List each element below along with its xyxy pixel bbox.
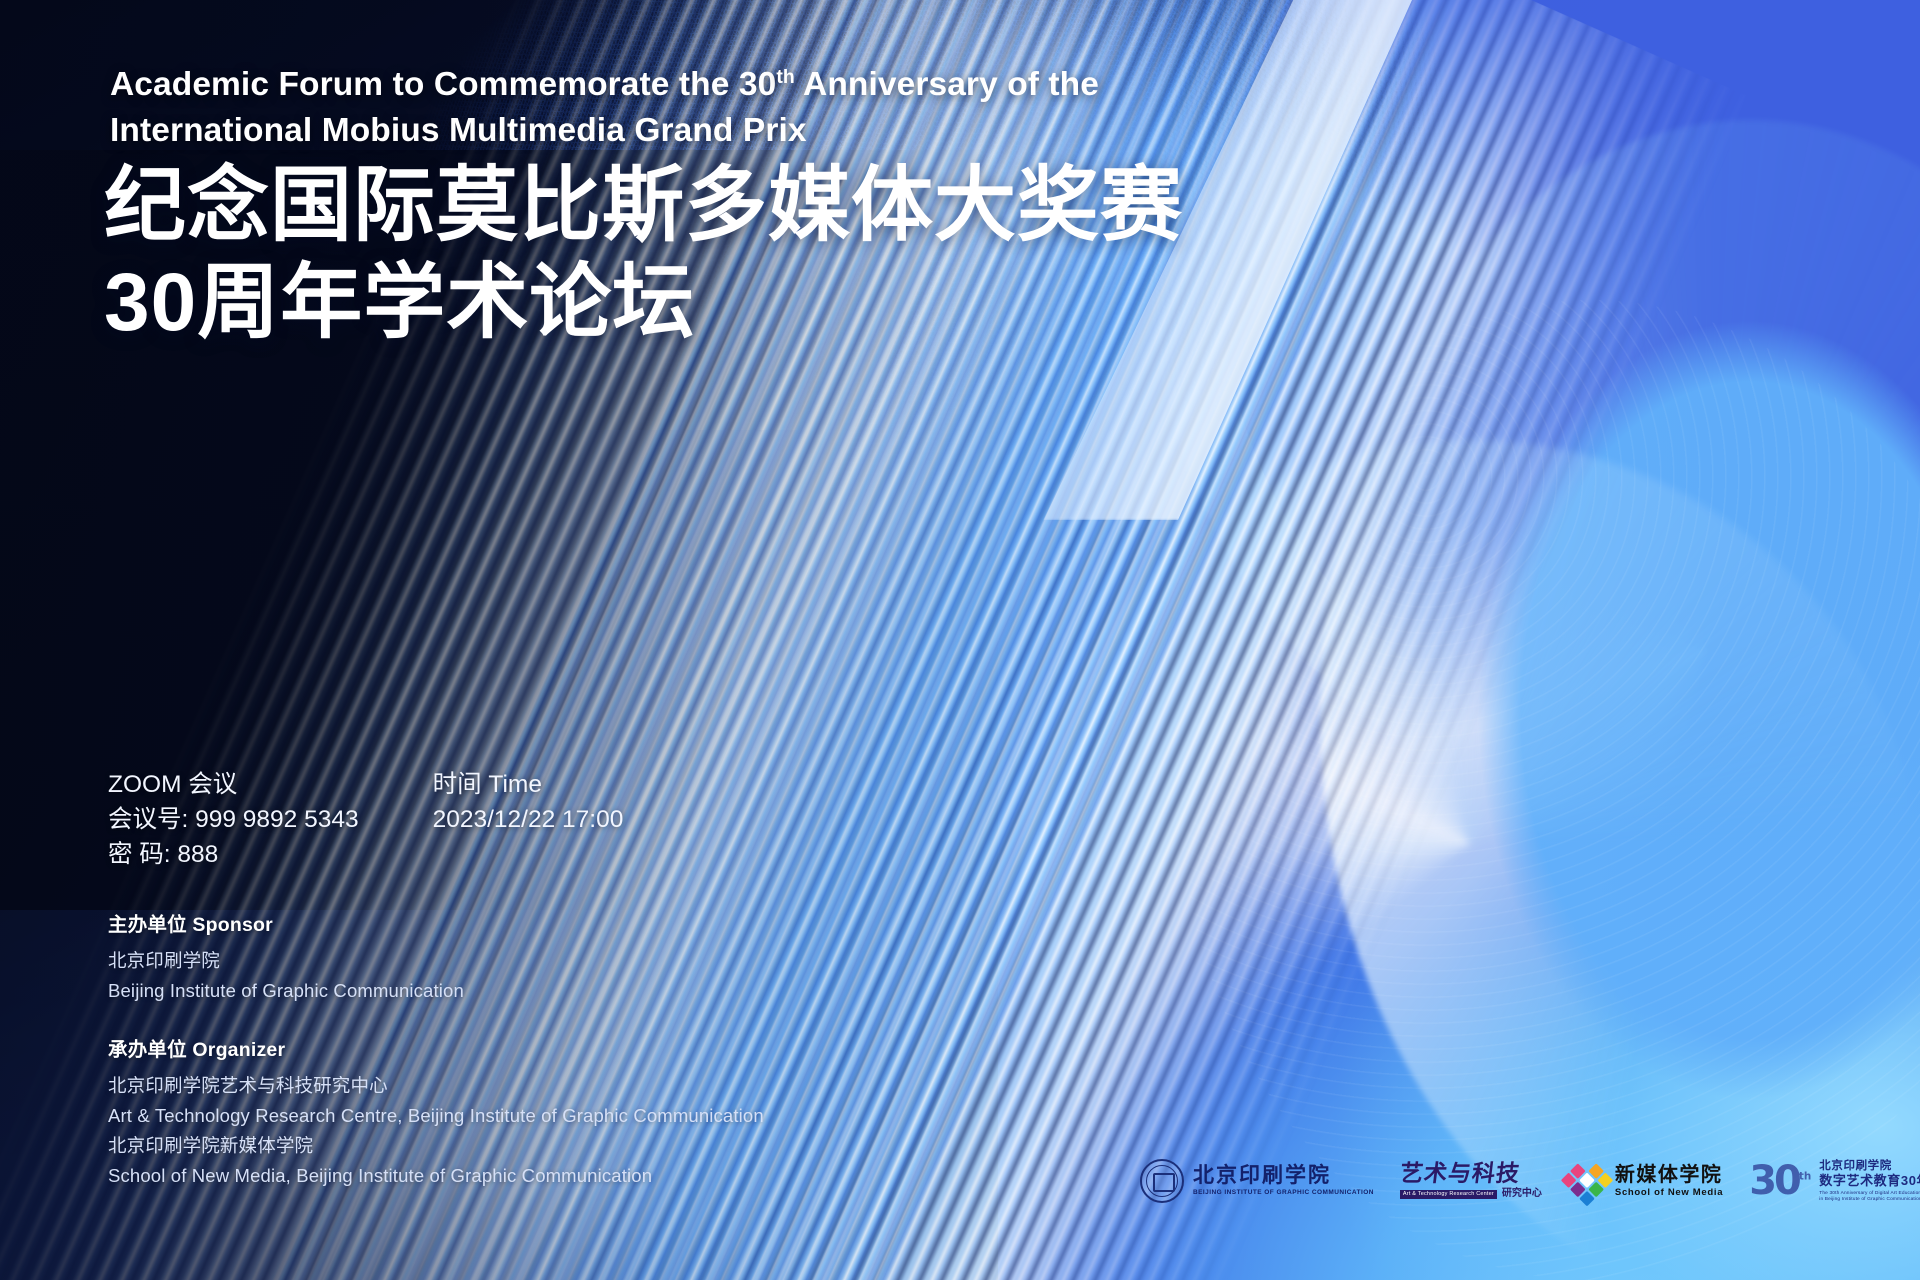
meeting-time-value: 2023/12/22 17:00 <box>433 803 624 838</box>
title-english-ordinal-suffix: th <box>776 66 795 88</box>
logo-30th-anniversary: 30th 北京印刷学院 数字艺术教育30年 The 30th Anniversa… <box>1749 1160 1920 1202</box>
credit-line-organizer-1-en: Art & Technology Research Centre, Beijin… <box>108 1101 764 1131</box>
logo-new-media-en: School of New Media <box>1615 1188 1723 1198</box>
poster-root: Academic Forum to Commemorate the 30th A… <box>0 0 1920 1280</box>
university-seal-icon <box>1140 1159 1184 1203</box>
logo-new-media: 新媒体学院 School of New Media <box>1568 1162 1723 1200</box>
title-english-line2: International Mobius Multimedia Grand Pr… <box>110 112 807 149</box>
anniversary-en-line2: in Beijing Institute of Graphic Communic… <box>1819 1197 1920 1202</box>
title-english-line1-a: Academic Forum to Commemorate the 30 <box>110 66 776 103</box>
logo-bigc-cn: 北京印刷学院 <box>1193 1165 1374 1187</box>
logo-art-technology-cn2: 研究中心 <box>1502 1189 1542 1200</box>
logo-new-media-text: 新媒体学院 School of New Media <box>1615 1165 1723 1198</box>
logo-new-media-cn: 新媒体学院 <box>1615 1165 1723 1186</box>
anniversary-cn-line1: 北京印刷学院 <box>1819 1160 1920 1173</box>
anniversary-ordinal: th <box>1799 1171 1811 1183</box>
logo-bigc-en: BEIJING INSTITUTE OF GRAPHIC COMMUNICATI… <box>1193 1190 1374 1197</box>
credit-line-organizer-1-cn: 北京印刷学院艺术与科技研究中心 <box>108 1071 764 1101</box>
anniversary-cn-line2: 数字艺术教育30年 <box>1819 1174 1920 1189</box>
logo-art-technology-cn: 艺术与科技 <box>1398 1162 1543 1186</box>
title-english: Academic Forum to Commemorate the 30th A… <box>110 62 1320 153</box>
anniversary-number-icon: 30th <box>1749 1161 1811 1201</box>
logo-bigc-text: 北京印刷学院 BEIJING INSTITUTE OF GRAPHIC COMM… <box>1193 1165 1374 1197</box>
new-media-diamond-icon <box>1560 1154 1614 1208</box>
title-chinese-line1: 纪念国际莫比斯多媒体大奖赛 <box>104 158 1183 255</box>
anniversary-en-line1: The 30th Anniversary of Digital Art Educ… <box>1819 1191 1920 1196</box>
meeting-time-column: 时间 Time 2023/12/22 17:00 <box>433 768 624 872</box>
logo-art-technology-text: 艺术与科技 Art & Technology Research Center 研… <box>1400 1162 1542 1200</box>
poster-content: Academic Forum to Commemorate the 30th A… <box>0 0 1920 1280</box>
credit-block-organizer: 承办单位 Organizer 北京印刷学院艺术与科技研究中心 Art & Tec… <box>108 1033 764 1191</box>
meeting-zoom-column: ZOOM 会议 会议号: 999 9892 5343 密 码: 888 <box>108 768 359 872</box>
credits: 主办单位 Sponsor 北京印刷学院 Beijing Institute of… <box>108 908 764 1218</box>
title-english-line1-b: Anniversary of the <box>795 66 1099 103</box>
meeting-info: ZOOM 会议 会议号: 999 9892 5343 密 码: 888 时间 T… <box>108 768 623 872</box>
logo-bigc: 北京印刷学院 BEIJING INSTITUTE OF GRAPHIC COMM… <box>1140 1159 1374 1203</box>
credit-line-sponsor-cn: 北京印刷学院 <box>108 946 764 976</box>
credit-heading-organizer: 承办单位 Organizer <box>108 1033 764 1062</box>
credit-line-organizer-2-cn: 北京印刷学院新媒体学院 <box>108 1131 764 1161</box>
title-chinese: 纪念国际莫比斯多媒体大奖赛 30周年学术论坛 <box>104 158 1183 352</box>
meeting-time-heading: 时间 Time <box>433 768 624 803</box>
credit-line-organizer-2-en: School of New Media, Beijing Institute o… <box>108 1161 764 1191</box>
meeting-id: 会议号: 999 9892 5343 <box>108 803 359 838</box>
meeting-zoom-heading: ZOOM 会议 <box>108 768 359 803</box>
credit-line-sponsor-en: Beijing Institute of Graphic Communicati… <box>108 976 764 1006</box>
logo-art-technology: 艺术与科技 Art & Technology Research Center 研… <box>1400 1162 1542 1200</box>
credit-heading-sponsor: 主办单位 Sponsor <box>108 908 764 937</box>
anniversary-text: 北京印刷学院 数字艺术教育30年 The 30th Anniversary of… <box>1819 1160 1920 1202</box>
title-chinese-line2: 30周年学术论坛 <box>104 255 1183 352</box>
logo-bar: 北京印刷学院 BEIJING INSTITUTE OF GRAPHIC COMM… <box>1140 1136 1880 1226</box>
credit-block-sponsor: 主办单位 Sponsor 北京印刷学院 Beijing Institute of… <box>108 908 764 1006</box>
meeting-passcode: 密 码: 888 <box>108 838 359 873</box>
anniversary-number: 30 <box>1749 1158 1799 1204</box>
logo-art-technology-subline: Art & Technology Research Center 研究中心 <box>1400 1189 1542 1200</box>
logo-art-technology-badge: Art & Technology Research Center <box>1400 1190 1497 1199</box>
